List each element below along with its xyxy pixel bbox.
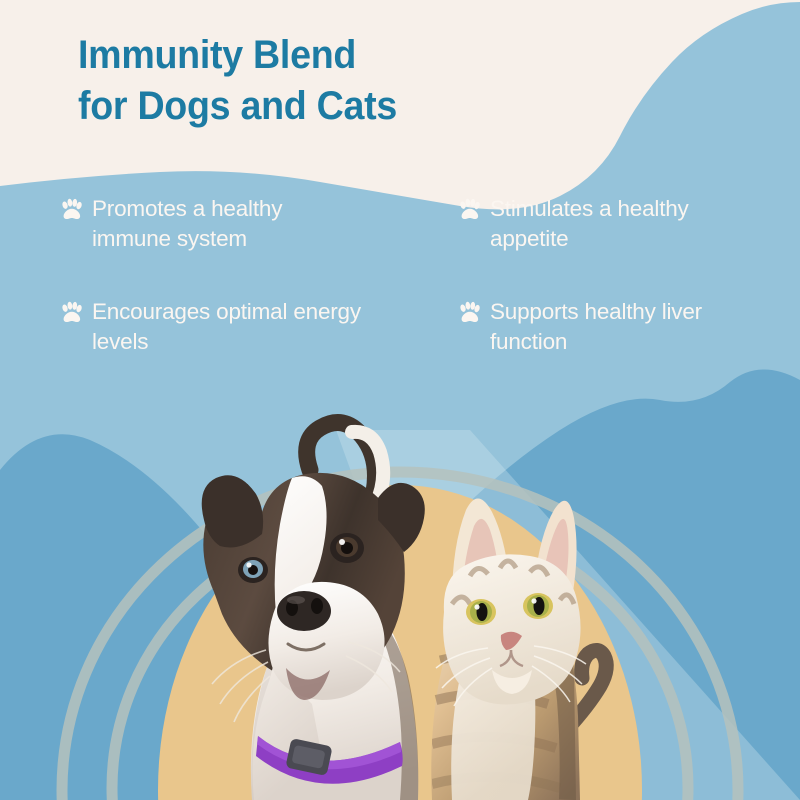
product-benefits-poster: Immunity Blend for Dogs and Cats Promote… bbox=[0, 0, 800, 800]
paw-print-icon bbox=[458, 301, 481, 324]
benefit-item: Stimulates a healthy appetite bbox=[458, 194, 740, 254]
benefit-label: Stimulates a healthy appetite bbox=[490, 194, 740, 254]
title-line-2: for Dogs and Cats bbox=[78, 81, 567, 132]
benefits-list: Promotes a healthy immune system Encoura… bbox=[0, 194, 800, 357]
benefit-label: Promotes a healthy immune system bbox=[92, 194, 362, 254]
benefit-item: Supports healthy liver function bbox=[458, 297, 740, 357]
benefit-label: Encourages optimal energy levels bbox=[92, 297, 362, 357]
benefit-item: Promotes a healthy immune system bbox=[60, 194, 400, 254]
benefit-item: Encourages optimal energy levels bbox=[60, 297, 400, 357]
poster-title: Immunity Blend for Dogs and Cats bbox=[78, 30, 598, 132]
paw-print-icon bbox=[60, 301, 83, 324]
benefits-column-left: Promotes a healthy immune system Encoura… bbox=[60, 194, 400, 357]
title-line-1: Immunity Blend bbox=[78, 30, 567, 81]
benefit-label: Supports healthy liver function bbox=[490, 297, 740, 357]
benefits-column-right: Stimulates a healthy appetite Supports h… bbox=[400, 194, 740, 357]
paw-print-icon bbox=[60, 198, 83, 221]
paw-print-icon bbox=[458, 198, 481, 221]
